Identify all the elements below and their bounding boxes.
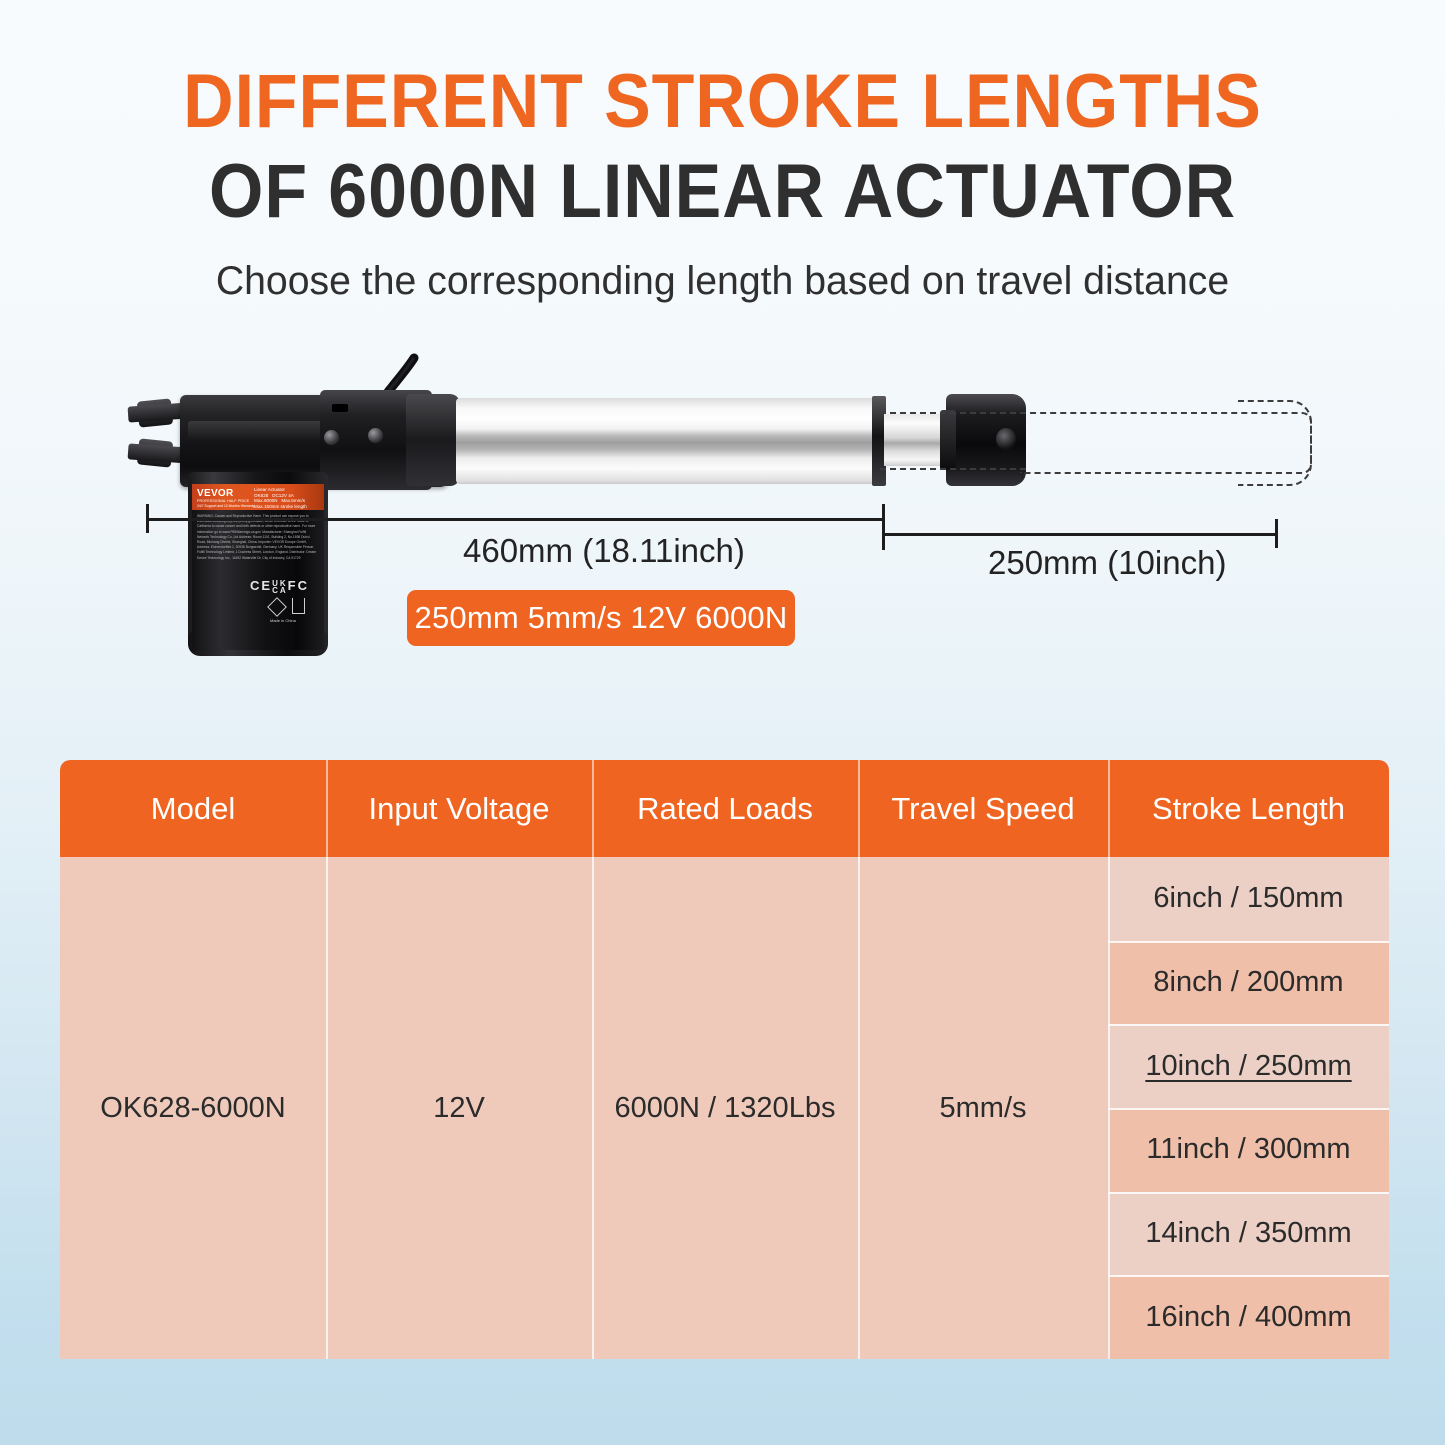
label-max-stroke: Max.150mm stroke length — [254, 504, 307, 510]
label-brand-tagline2: 24/7 Support and 12 Months Warranty — [197, 504, 254, 508]
page-title-line1: DIFFERENT STROKE LENGTHS — [58, 60, 1387, 144]
stroke-option[interactable]: 14inch / 350mm — [1108, 1192, 1389, 1276]
made-in-text: Made in China — [270, 618, 296, 623]
stroke-length-options: 6inch / 150mm 8inch / 200mm 10inch / 250… — [1108, 857, 1389, 1359]
column-header-travel-speed: Travel Speed — [858, 760, 1108, 857]
label-model: OK628 — [254, 493, 268, 498]
stroke-option-label: 14inch / 350mm — [1145, 1217, 1351, 1250]
housing-screw-right — [368, 428, 383, 443]
product-spec-label: VEVOR PROFESSIONAL HALF PRICE 24/7 Suppo… — [192, 484, 324, 510]
dimension-tick-right — [1275, 519, 1278, 548]
certification-marks: CEUKCAFC — [250, 578, 309, 594]
stroke-outline-bottom — [880, 468, 1026, 470]
column-header-model: Model — [60, 760, 326, 857]
extended-clevis-outline — [1238, 400, 1312, 486]
selected-variant-badge: 250mm 5mm/s 12V 6000N — [407, 590, 795, 646]
spec-table-body: OK628-6000N 12V 6000N / 1320Lbs 5mm/s 6i… — [60, 857, 1389, 1359]
stroke-option[interactable]: 6inch / 150mm — [1108, 857, 1389, 941]
label-max-speed: Max.5mm/s — [281, 498, 305, 503]
dimension-label-retracted: 460mm (18.11inch) — [463, 532, 745, 570]
label-max-force: Max.6000N — [254, 498, 278, 503]
stroke-option-label: 6inch / 150mm — [1153, 882, 1343, 915]
column-header-stroke-length: Stroke Length — [1108, 760, 1389, 857]
stroke-option-selected[interactable]: 10inch / 250mm — [1108, 1024, 1389, 1108]
dimension-label-stroke: 250mm (10inch) — [988, 544, 1226, 582]
dimension-line-stroke — [882, 533, 1278, 536]
stroke-option-label: 8inch / 200mm — [1153, 966, 1343, 999]
stroke-option-label: 10inch / 250mm — [1145, 1050, 1351, 1083]
tube-clamp — [406, 394, 460, 486]
label-brand-tagline: PROFESSIONAL HALF PRICE — [197, 499, 249, 503]
stroke-option[interactable]: 8inch / 200mm — [1108, 941, 1389, 1025]
label-voltage: DC12V 4A — [272, 493, 294, 498]
stroke-option-label: 16inch / 400mm — [1145, 1301, 1351, 1334]
header-block: DIFFERENT STROKE LENGTHS OF 6000N LINEAR… — [0, 60, 1445, 306]
cell-input-voltage: 12V — [326, 857, 592, 1359]
page-title-line2: OF 6000N LINEAR ACTUATOR — [58, 150, 1387, 234]
stroke-option[interactable]: 11inch / 300mm — [1108, 1108, 1389, 1192]
ce-mark-icon: CE — [250, 578, 272, 593]
stroke-option-label: 11inch / 300mm — [1146, 1133, 1350, 1166]
clevis-mounting-hole — [996, 428, 1016, 450]
dimension-tick-left — [146, 504, 149, 533]
column-header-input-voltage: Input Voltage — [326, 760, 592, 857]
outer-tube — [456, 398, 876, 484]
cell-model: OK628-6000N — [60, 857, 326, 1359]
infographic-page: DIFFERENT STROKE LENGTHS OF 6000N LINEAR… — [0, 0, 1445, 1445]
dimension-line-retracted — [146, 518, 883, 521]
cell-travel-speed: 5mm/s — [858, 857, 1108, 1359]
label-brand: VEVOR — [197, 488, 234, 499]
front-clevis-end — [946, 394, 1026, 486]
stroke-option[interactable]: 16inch / 400mm — [1108, 1275, 1389, 1359]
stroke-outline-top — [880, 412, 1026, 414]
spec-table: Model Input Voltage Rated Loads Travel S… — [60, 760, 1389, 1359]
column-header-rated-loads: Rated Loads — [592, 760, 858, 857]
housing-screw-left — [324, 430, 339, 445]
dimension-tick-middle — [882, 504, 885, 550]
fcc-mark-icon: FC — [288, 578, 309, 593]
cell-rated-loads: 6000N / 1320Lbs — [592, 857, 858, 1359]
weee-bin-icon — [292, 598, 305, 614]
page-subtitle: Choose the corresponding length based on… — [14, 256, 1430, 306]
spec-table-header-row: Model Input Voltage Rated Loads Travel S… — [60, 760, 1389, 857]
